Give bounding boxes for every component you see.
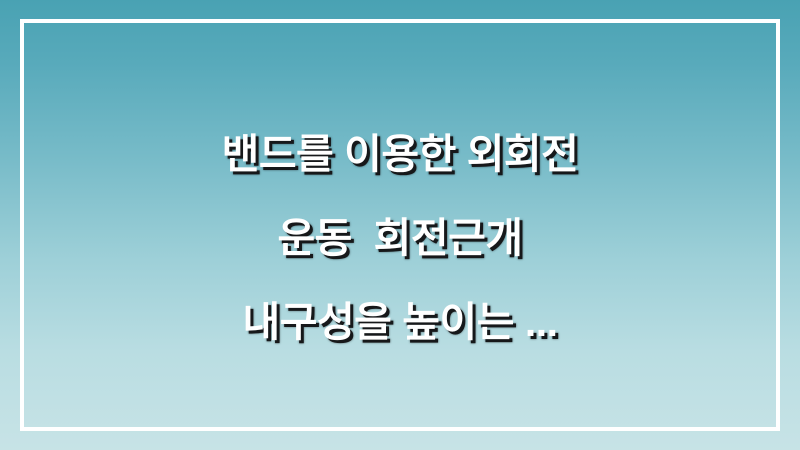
title-line-1: 밴드를 이용한 외회전 [46, 112, 754, 196]
title-line-3: 내구성을 높이는 ... [46, 280, 754, 364]
title-line-2: 운동 회전근개 [46, 196, 754, 280]
title-block: 밴드를 이용한 외회전 운동 회전근개 내구성을 높이는 ... [0, 112, 800, 364]
thumbnail-card: 밴드를 이용한 외회전 운동 회전근개 내구성을 높이는 ... [0, 0, 800, 450]
